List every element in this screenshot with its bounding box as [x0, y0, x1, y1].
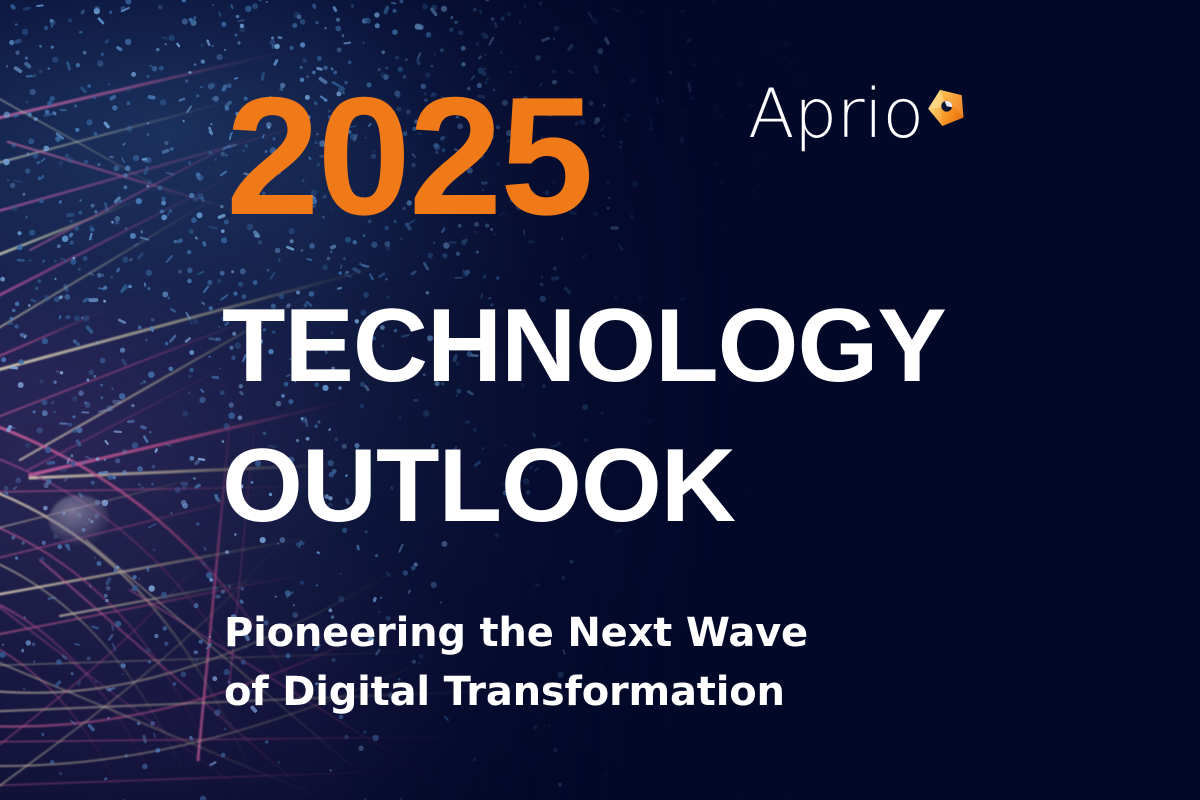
headline-line-2: OUTLOOK: [222, 416, 1122, 556]
subtitle-line-2: of Digital Transformation: [224, 663, 944, 722]
cover-headline: TECHNOLOGY OUTLOOK: [222, 276, 1122, 556]
headline-line-1: TECHNOLOGY: [222, 276, 1122, 416]
pentagon-aperture-icon: [926, 86, 968, 128]
report-cover: Aprio: [0, 0, 1200, 800]
cover-subtitle: Pioneering the Next Wave of Digital Tran…: [224, 604, 944, 722]
aprio-wordmark: Aprio: [748, 84, 924, 147]
cover-content: Aprio: [0, 0, 1200, 800]
aprio-logo[interactable]: Aprio: [748, 84, 968, 147]
subtitle-line-1: Pioneering the Next Wave: [224, 604, 944, 663]
cover-year: 2025: [226, 72, 592, 240]
